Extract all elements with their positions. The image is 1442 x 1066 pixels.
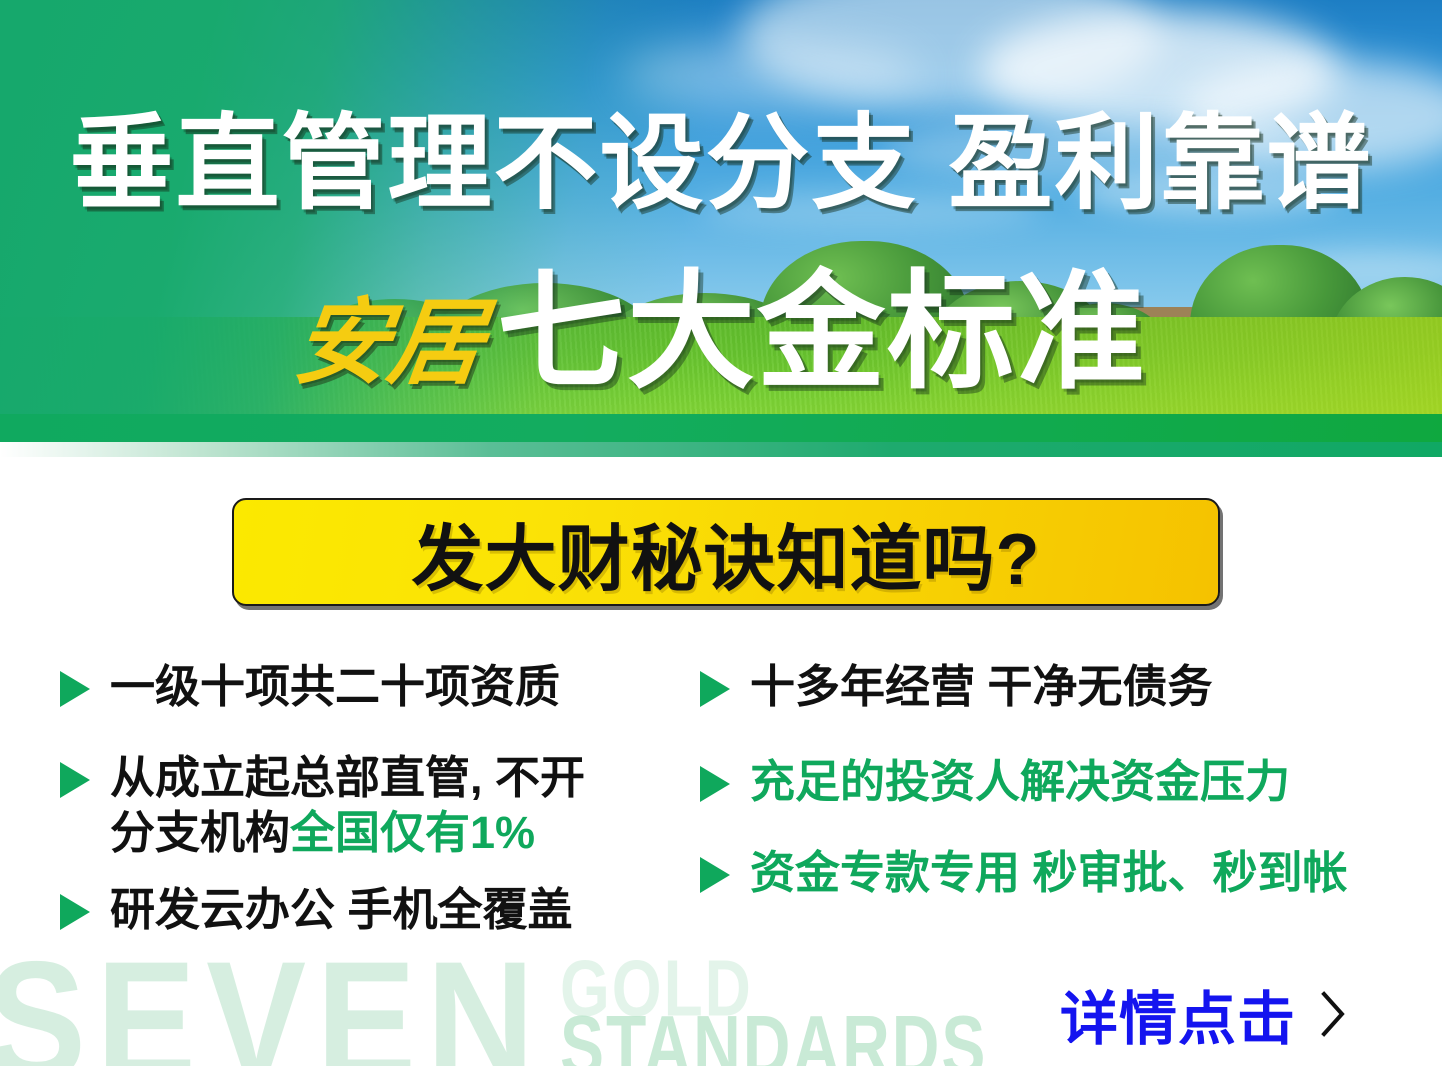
feature-column-left: 一级十项共二十项资质 从成立起总部直管, 不开 分支机构全国仅有1% 研发云办公… [60,660,700,964]
headline-secondary-row: 安居 七大金标准 [0,272,1442,394]
triangle-bullet-icon [700,857,730,893]
details-cta-label: 详情点击 [1060,972,1296,1056]
triangle-bullet-icon [60,762,90,798]
feature-text: 从成立起总部直管, 不开 分支机构全国仅有1% [110,751,585,861]
triangle-bullet-icon [60,671,90,707]
watermark-standards: STANDARDS [560,1002,987,1066]
question-banner[interactable]: 发大财秘诀知道吗? [232,498,1220,606]
feature-text: 研发云办公 手机全覆盖 [110,883,573,938]
brand-mark: 安居 [289,297,488,389]
feature-item: 从成立起总部直管, 不开 分支机构全国仅有1% [60,751,700,861]
feature-item: 资金专款专用 秒审批、秒到帐 [700,846,1420,901]
feature-column-right: 十多年经营 干净无债务 充足的投资人解决资金压力 资金专款专用 秒审批、秒到帐 [700,660,1420,927]
headline-primary: 垂直管理不设分支 盈利靠谱 [0,112,1442,216]
hero-footer-spacer [0,457,1442,465]
feature-text: 一级十项共二十项资质 [110,660,560,715]
feature-text: 十多年经营 干净无债务 [750,660,1213,715]
feature-line: 分支机构 [110,807,290,858]
promo-banner: 垂直管理不设分支 盈利靠谱 安居 七大金标准 发大财秘诀知道吗? SEVEN G… [0,0,1442,1066]
feature-highlight: 全国仅有1% [290,807,535,858]
feature-line: 从成立起总部直管, 不开 [110,752,585,803]
feature-item: 研发云办公 手机全覆盖 [60,883,700,938]
triangle-bullet-icon [700,671,730,707]
chevron-right-icon [1320,990,1346,1038]
feature-item: 充足的投资人解决资金压力 [700,755,1420,810]
feature-list: 一级十项共二十项资质 从成立起总部直管, 不开 分支机构全国仅有1% 研发云办公… [0,660,1442,990]
feature-item: 十多年经营 干净无债务 [700,660,1420,715]
feature-text: 资金专款专用 秒审批、秒到帐 [750,846,1348,901]
triangle-bullet-icon [700,766,730,802]
feature-line: 充足的投资人解决资金压力 [750,756,1290,807]
feature-item: 一级十项共二十项资质 [60,660,700,715]
feature-text: 充足的投资人解决资金压力 [750,755,1290,810]
question-banner-label: 发大财秘诀知道吗? [412,500,1041,605]
triangle-bullet-icon [60,894,90,930]
feature-line: 十多年经营 干净无债务 [750,661,1213,712]
feature-line: 资金专款专用 秒审批、秒到帐 [750,847,1348,898]
green-divider-band [0,414,1442,442]
feature-line: 一级十项共二十项资质 [110,661,560,712]
gradient-rule [0,442,1442,457]
headline-secondary: 七大金标准 [497,272,1147,394]
feature-line: 研发云办公 手机全覆盖 [110,884,573,935]
hero-section: 垂直管理不设分支 盈利靠谱 安居 七大金标准 [0,0,1442,465]
details-cta-link[interactable]: 详情点击 [1060,972,1346,1056]
